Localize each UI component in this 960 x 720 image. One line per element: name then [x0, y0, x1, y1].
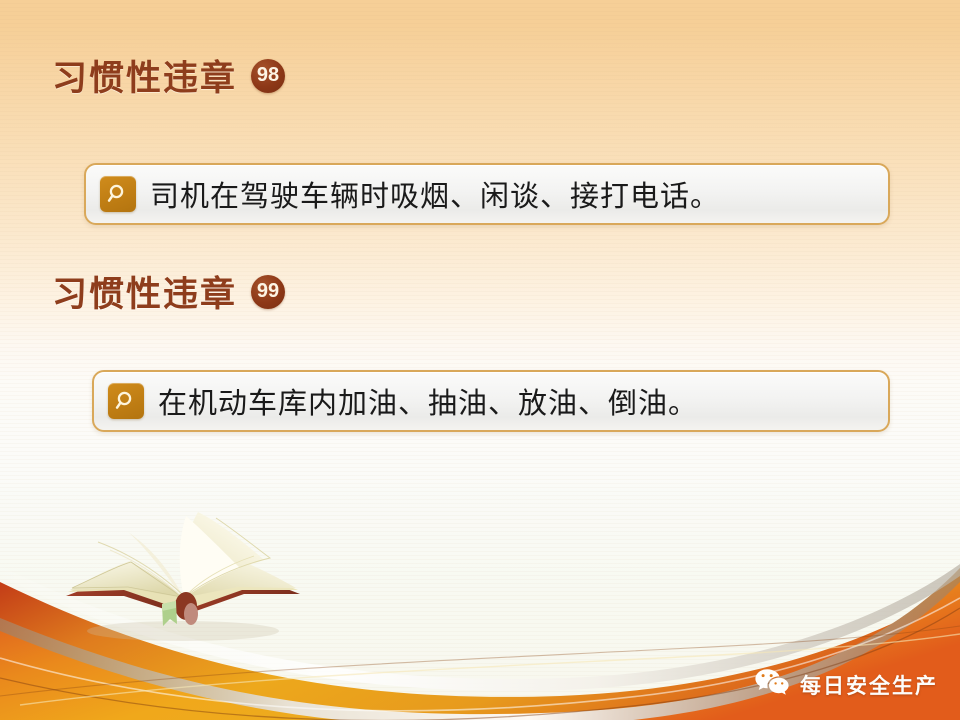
section-heading-2: 习惯性违章 99 [52, 266, 285, 317]
heading-label: 习惯性违章 [52, 266, 237, 317]
violation-text: 司机在驾驶车辆时吸烟、闲谈、接打电话。 [150, 173, 720, 215]
watermark: 每日安全生产 [754, 667, 938, 702]
status-badge: 99 [251, 275, 285, 309]
wechat-icon [754, 667, 790, 702]
watermark-label: 每日安全生产 [800, 670, 938, 700]
heading-label: 习惯性违章 [52, 50, 237, 101]
violation-item-2: 在机动车库内加油、抽油、放油、倒油。 [92, 370, 890, 432]
search-icon [100, 176, 136, 212]
violation-text: 在机动车库内加油、抽油、放油、倒油。 [158, 380, 698, 422]
open-book-illustration [58, 498, 308, 648]
slide-canvas: 习惯性违章 98 司机在驾驶车辆时吸烟、闲谈、接打电话。 习惯性违章 99 在机… [0, 0, 960, 720]
violation-item-1: 司机在驾驶车辆时吸烟、闲谈、接打电话。 [84, 163, 890, 225]
status-badge: 98 [251, 59, 285, 93]
search-icon [108, 383, 144, 419]
section-heading-1: 习惯性违章 98 [52, 50, 285, 101]
